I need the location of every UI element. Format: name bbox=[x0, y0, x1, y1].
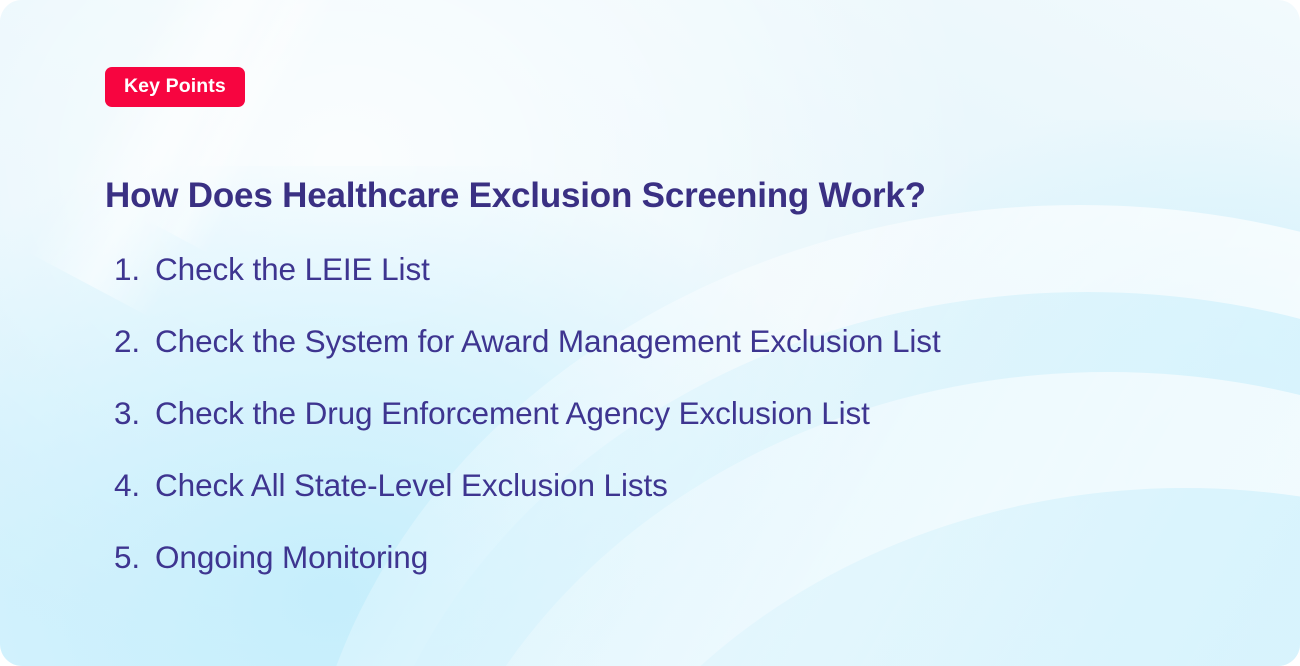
list-item: 4. Check All State-Level Exclusion Lists bbox=[114, 470, 1264, 542]
list-item: 5. Ongoing Monitoring bbox=[114, 542, 1264, 614]
step-number: 5. bbox=[114, 542, 155, 574]
card-content: Key Points How Does Healthcare Exclusion… bbox=[0, 0, 1300, 666]
list-item: 1. Check the LEIE List bbox=[114, 254, 1264, 326]
key-points-badge-label: Key Points bbox=[124, 77, 226, 97]
step-label: Check the System for Award Management Ex… bbox=[155, 326, 941, 358]
step-label: Check All State-Level Exclusion Lists bbox=[155, 470, 668, 502]
step-label: Ongoing Monitoring bbox=[155, 542, 428, 574]
list-item: 3. Check the Drug Enforcement Agency Exc… bbox=[114, 398, 1264, 470]
step-number: 3. bbox=[114, 398, 155, 430]
page-title: How Does Healthcare Exclusion Screening … bbox=[105, 175, 926, 217]
steps-list: 1. Check the LEIE List 2. Check the Syst… bbox=[114, 254, 1264, 614]
step-number: 1. bbox=[114, 254, 155, 286]
step-label: Check the Drug Enforcement Agency Exclus… bbox=[155, 398, 870, 430]
step-number: 2. bbox=[114, 326, 155, 358]
step-label: Check the LEIE List bbox=[155, 254, 430, 286]
key-points-card: Key Points How Does Healthcare Exclusion… bbox=[0, 0, 1300, 666]
key-points-badge: Key Points bbox=[105, 67, 245, 107]
step-number: 4. bbox=[114, 470, 155, 502]
list-item: 2. Check the System for Award Management… bbox=[114, 326, 1264, 398]
